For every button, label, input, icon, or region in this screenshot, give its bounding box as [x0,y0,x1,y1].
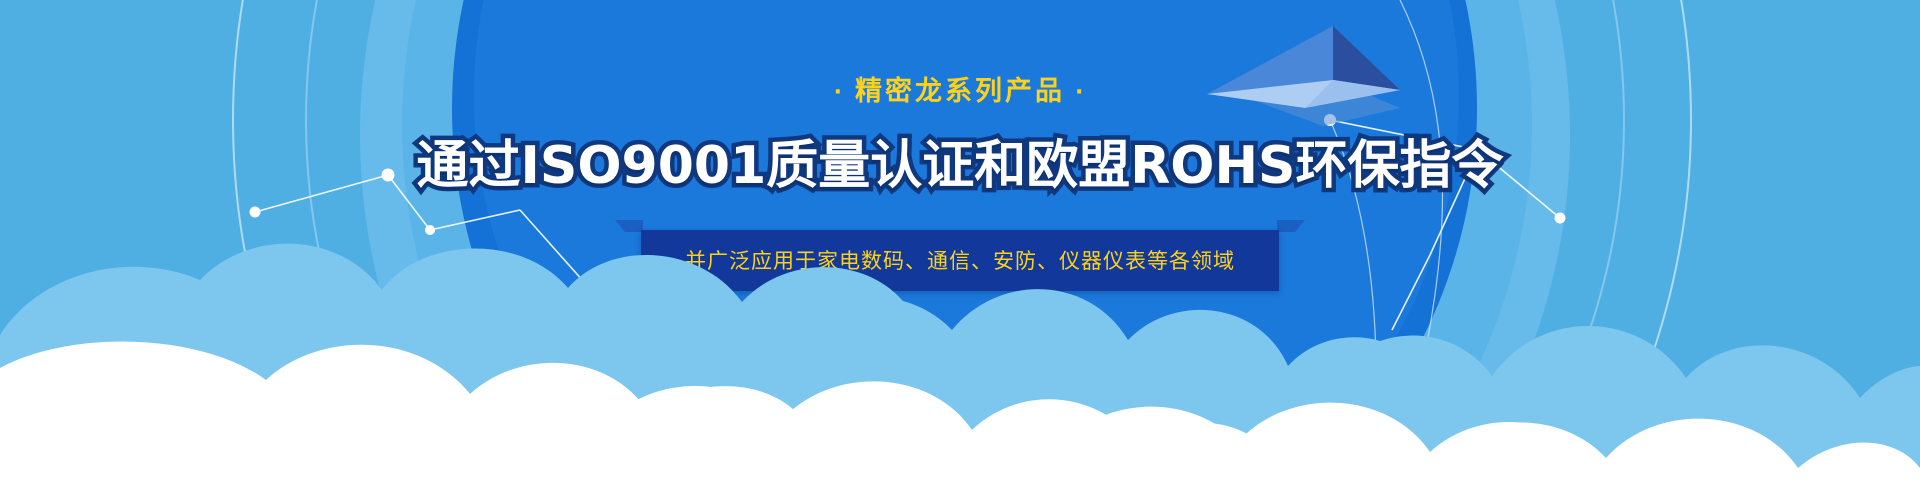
page-title: 通过ISO9001质量认证和欧盟ROHS环保指令 [0,139,1920,194]
eyebrow-label: 精密龙系列产品 [855,76,1065,107]
ribbon-subtitle: 并广泛应用于家电数码、通信、安防、仪器仪表等各领域 [641,230,1279,291]
ribbon-banner: 并广泛应用于家电数码、通信、安防、仪器仪表等各领域 [641,230,1279,291]
ribbon-fold-left-icon [615,220,643,232]
eyebrow-dot-left: · [834,82,845,104]
eyebrow-dot-right: · [1075,82,1086,104]
ribbon-fold-right-icon [1277,220,1305,232]
promo-banner: ·精密龙系列产品· 通过ISO9001质量认证和欧盟ROHS环保指令 并广泛应用… [0,0,1920,480]
eyebrow-text: ·精密龙系列产品· [0,78,1920,105]
banner-content: ·精密龙系列产品· 通过ISO9001质量认证和欧盟ROHS环保指令 并广泛应用… [0,0,1920,291]
